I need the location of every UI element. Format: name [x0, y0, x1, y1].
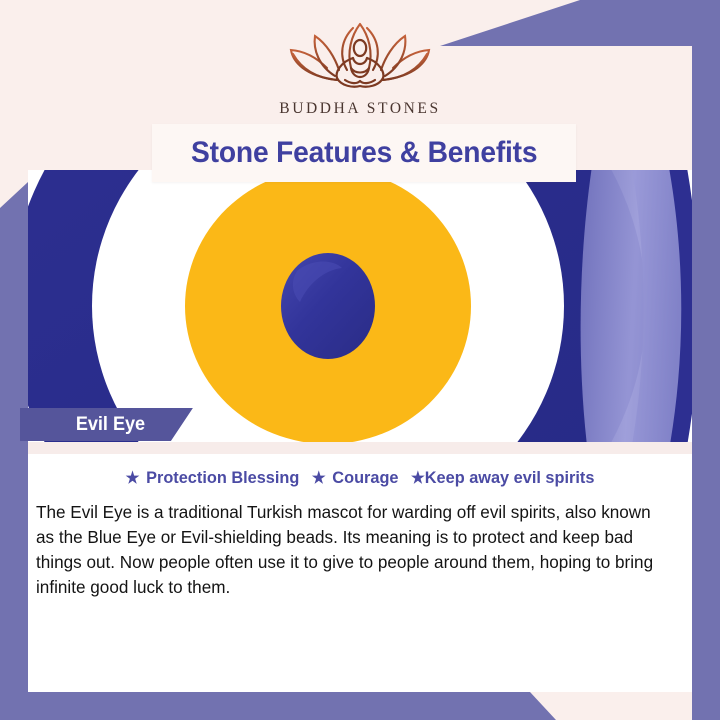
title-banner: Stone Features & Benefits: [152, 124, 576, 182]
brand-name: BUDDHA STONES: [0, 100, 720, 118]
hero-tag: Evil Eye: [20, 408, 193, 441]
description-text: The Evil Eye is a traditional Turkish ma…: [36, 500, 672, 600]
page-title: Stone Features & Benefits: [191, 136, 537, 170]
content-card: ★Protection Blessing★Courage★Keep away e…: [28, 454, 692, 692]
evil-eye-bead-illustration: [28, 170, 692, 442]
lotus-meditation-icon: [275, 18, 445, 96]
star-icon-1: ★: [126, 470, 140, 487]
hero-tag-label: Evil Eye: [76, 414, 145, 436]
frame-bottom-band: [0, 692, 720, 720]
feature-item-2: Courage: [332, 468, 398, 487]
star-icon-2: ★: [312, 470, 326, 487]
feature-item-3: Keep away evil spirits: [425, 468, 595, 487]
feature-item-1: Protection Blessing: [146, 468, 299, 487]
divider-strip: [28, 442, 692, 454]
promo-card: BUDDHA STONES Stone Features & Benefits: [0, 0, 720, 720]
features-list: ★Protection Blessing★Courage★Keep away e…: [41, 468, 678, 488]
brand-logo: BUDDHA STONES: [0, 18, 720, 118]
hero-image: [28, 170, 692, 442]
star-icon-3: ★: [411, 470, 425, 487]
